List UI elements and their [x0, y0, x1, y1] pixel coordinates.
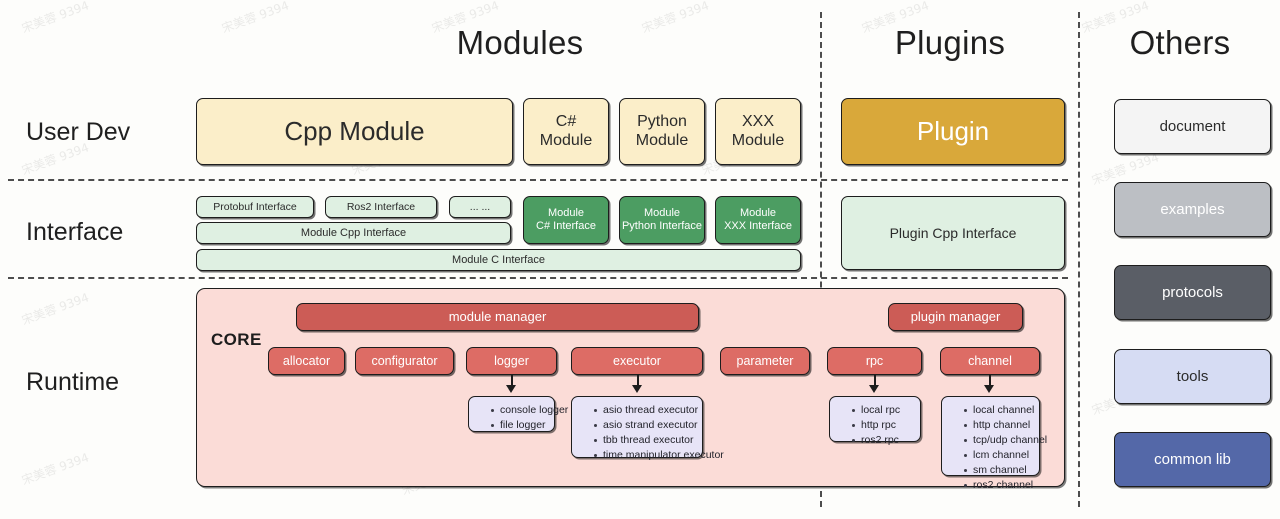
list-item: ros2 rpc	[852, 433, 912, 448]
arrow-channel-icon	[984, 385, 994, 393]
box-parameter[interactable]: parameter	[720, 347, 810, 375]
box-module-csharp-interface[interactable]: Module C# Interface	[523, 196, 609, 244]
row-label-interface: Interface	[26, 218, 123, 247]
box-module-python-interface[interactable]: Module Python Interface	[619, 196, 705, 244]
box-python-module[interactable]: Python Module	[619, 98, 705, 165]
watermark: 宋美蓉 9394	[219, 0, 291, 37]
box-plugin-cpp-interface[interactable]: Plugin Cpp Interface	[841, 196, 1065, 270]
divider-plugins-others	[1078, 12, 1080, 507]
watermark: 宋美蓉 9394	[19, 0, 91, 37]
column-header-plugins: Plugins	[830, 24, 1070, 62]
list-logger-details: console loggerfile logger	[468, 396, 555, 432]
list-item: tbb thread executor	[594, 433, 694, 448]
box-allocator[interactable]: allocator	[268, 347, 345, 375]
list-item: http channel	[964, 418, 1031, 433]
arrow-executor-icon	[632, 385, 642, 393]
box-others-protocols[interactable]: protocols	[1114, 265, 1271, 320]
box-cpp-module[interactable]: Cpp Module	[196, 98, 513, 165]
divider-interface-runtime	[8, 277, 1068, 279]
box-ros2-interface[interactable]: Ros2 Interface	[325, 196, 437, 218]
box-others-common-lib[interactable]: common lib	[1114, 432, 1271, 487]
box-protobuf-interface[interactable]: Protobuf Interface	[196, 196, 314, 218]
box-plugin[interactable]: Plugin	[841, 98, 1065, 165]
list-channel-details: local channelhttp channeltcp/udp channel…	[941, 396, 1040, 476]
list-item: http rpc	[852, 418, 912, 433]
box-others-examples[interactable]: examples	[1114, 182, 1271, 237]
row-label-user-dev: User Dev	[26, 118, 130, 147]
list-item: local rpc	[852, 403, 912, 418]
list-item: asio thread executor	[594, 403, 694, 418]
box-module-xxx-interface[interactable]: Module XXX Interface	[715, 196, 801, 244]
watermark: 宋美蓉 9394	[19, 448, 91, 488]
list-item: local channel	[964, 403, 1031, 418]
arrow-rpc-icon	[869, 385, 879, 393]
list-item: console logger	[491, 403, 546, 418]
divider-userdev-interface	[8, 179, 1068, 181]
box-xxx-module[interactable]: XXX Module	[715, 98, 801, 165]
core-label: CORE	[211, 330, 262, 350]
column-header-modules: Modules	[380, 24, 660, 62]
list-rpc-details: local rpchttp rpcros2 rpc	[829, 396, 921, 442]
box-csharp-module[interactable]: C# Module	[523, 98, 609, 165]
diagram-canvas: 宋美蓉 9394 宋美蓉 9394 宋美蓉 9394 宋美蓉 9394 宋美蓉 …	[0, 0, 1280, 519]
box-others-tools[interactable]: tools	[1114, 349, 1271, 404]
list-item: asio strand executor	[594, 418, 694, 433]
list-item: lcm channel	[964, 448, 1031, 463]
box-channel[interactable]: channel	[940, 347, 1040, 375]
box-module-c-interface[interactable]: Module C Interface	[196, 249, 801, 271]
box-more-interface[interactable]: ... ...	[449, 196, 511, 218]
column-header-others: Others	[1090, 24, 1270, 62]
arrow-logger-icon	[506, 385, 516, 393]
box-logger[interactable]: logger	[466, 347, 557, 375]
list-item: time manipulator executor	[594, 448, 694, 463]
list-item: ros2 channel	[964, 478, 1031, 493]
list-item: file logger	[491, 418, 546, 433]
list-item: tcp/udp channel	[964, 433, 1031, 448]
box-rpc[interactable]: rpc	[827, 347, 922, 375]
box-module-cpp-interface[interactable]: Module Cpp Interface	[196, 222, 511, 244]
box-executor[interactable]: executor	[571, 347, 703, 375]
list-item: sm channel	[964, 463, 1031, 478]
row-label-runtime: Runtime	[26, 368, 119, 397]
list-executor-details: asio thread executorasio strand executor…	[571, 396, 703, 458]
box-plugin-manager[interactable]: plugin manager	[888, 303, 1023, 331]
watermark: 宋美蓉 9394	[19, 288, 91, 328]
box-module-manager[interactable]: module manager	[296, 303, 699, 331]
box-others-document[interactable]: document	[1114, 99, 1271, 154]
box-configurator[interactable]: configurator	[355, 347, 454, 375]
